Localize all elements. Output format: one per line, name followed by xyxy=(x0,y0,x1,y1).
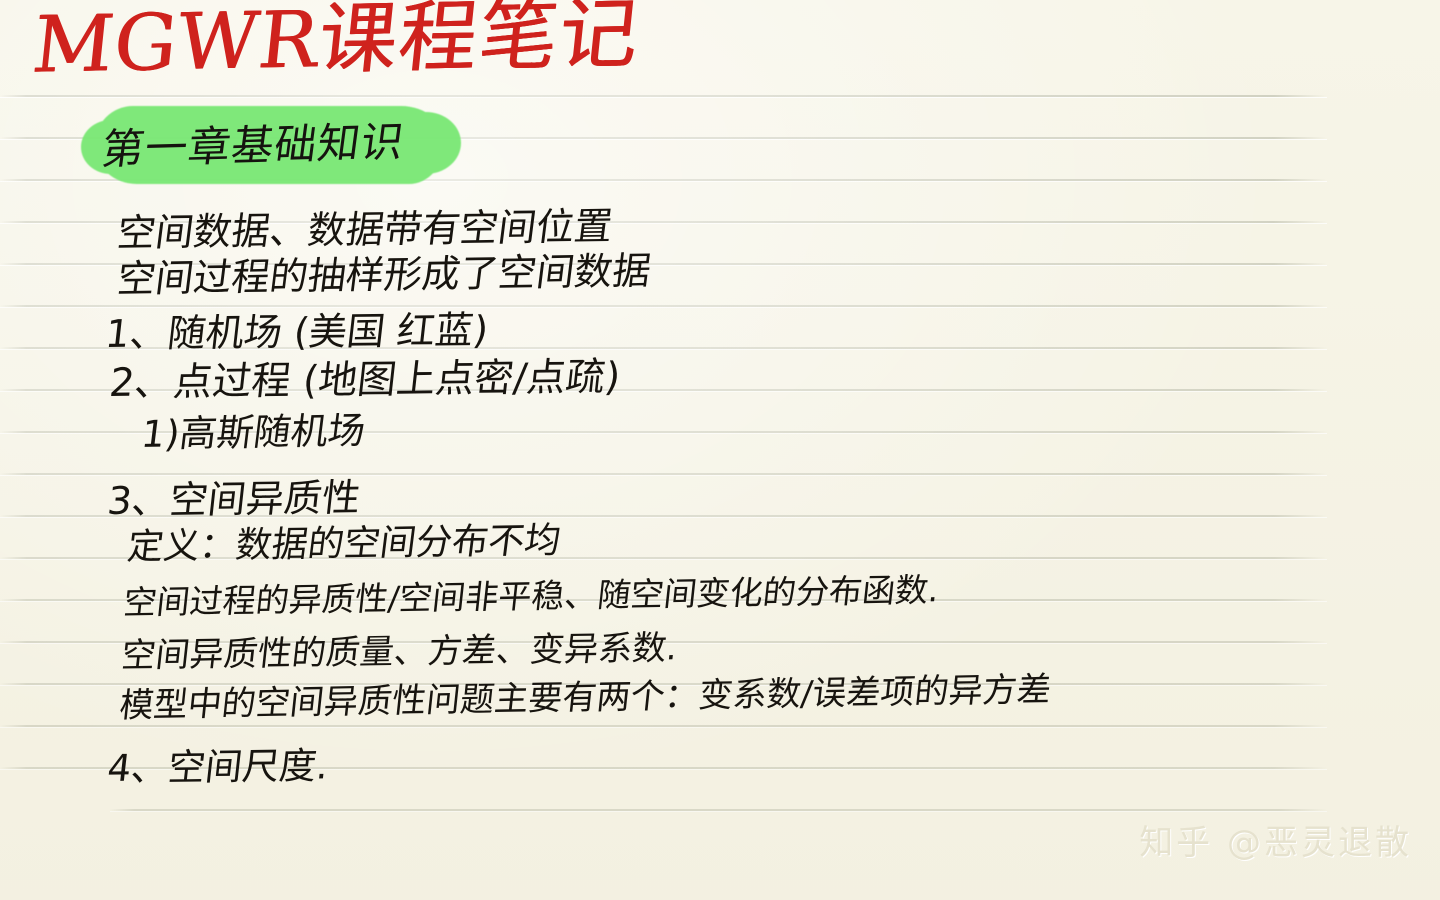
note-page: MGWR课程笔记 第一章基础知识 空间数据、数据带有空间位置空间过程的抽样形成了… xyxy=(0,0,1440,900)
title-latin: MGWR xyxy=(29,0,324,91)
title-chinese: 课程笔记 xyxy=(314,0,644,85)
rule-line xyxy=(110,809,1327,811)
chapter-heading: 第一章基础知识 xyxy=(95,106,445,186)
note-line: 2、点过程 (地图上点密/点疏) xyxy=(107,346,624,408)
page-title: MGWR课程笔记 xyxy=(29,0,645,92)
note-line: 1)高斯随机场 xyxy=(139,400,369,458)
note-line: 定义：数据的空间分布不均 xyxy=(125,511,564,570)
note-line: 空间过程的抽样形成了空间数据 xyxy=(115,240,655,303)
note-line: 空间异质性的质量、方差、变异系数. xyxy=(119,620,680,677)
chapter-heading-text: 第一章基础知识 xyxy=(98,108,408,177)
rule-line xyxy=(0,95,1327,97)
watermark: 知乎 @恶灵退散 xyxy=(1139,815,1412,864)
note-line: 4、空间尺度. xyxy=(105,735,332,792)
